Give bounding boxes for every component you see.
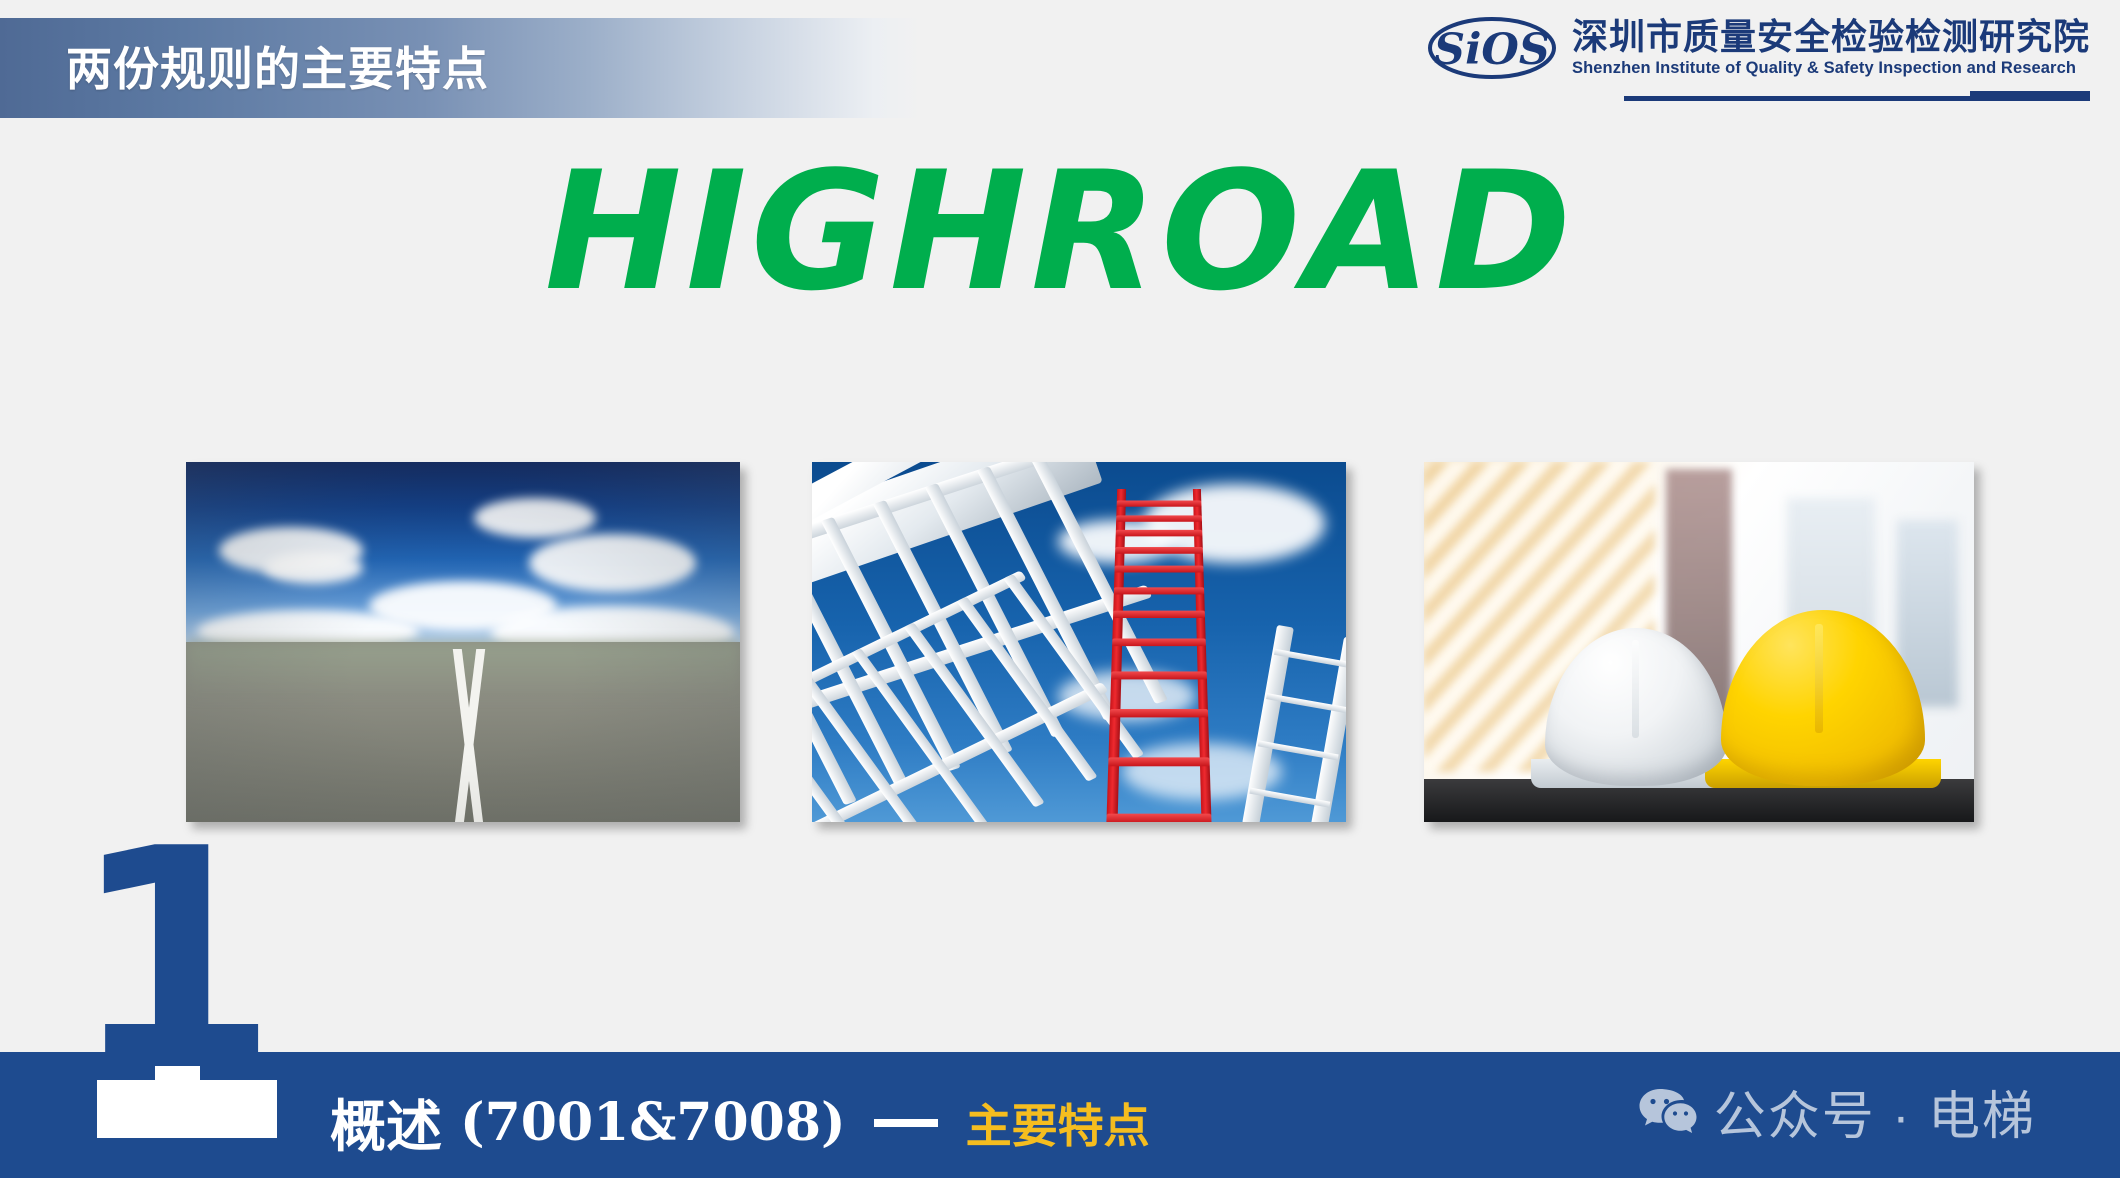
ladders-sky-photo	[812, 462, 1346, 822]
footer-accent-text: 主要特点	[966, 1090, 1150, 1156]
logo-name-cn: 深圳市质量安全检验检测研究院	[1572, 19, 2090, 55]
sios-logo-icon: SiOS	[1426, 14, 1558, 82]
wechat-label: 公众号 · 电梯	[1714, 1074, 2036, 1149]
hard-hats-photo	[1424, 462, 1974, 822]
section-number-base	[97, 1080, 277, 1138]
footer-dash-separator	[874, 1119, 938, 1127]
page-title: 两份规则的主要特点	[66, 33, 489, 99]
logo-name-en: Shenzhen Institute of Quality & Safety I…	[1572, 60, 2090, 77]
organization-logo: SiOS 深圳市质量安全检验检测研究院 Shenzhen Institute o…	[1426, 14, 2090, 82]
highway-road-photo	[186, 462, 740, 822]
slide-canvas: 两份规则的主要特点 SiOS 深圳市质量安全检验检测研究院 Shenzhen I…	[0, 0, 2120, 1178]
footer-title-group: 概述 (7001&7008) 主要特点	[330, 1082, 1150, 1163]
logo-underline-accent	[1970, 91, 2090, 101]
wechat-icon	[1638, 1086, 1698, 1138]
highroad-wordmark: HIGHROAD	[0, 150, 2120, 314]
footer-standard-code: (7001&7008)	[460, 1092, 846, 1153]
wechat-watermark: 公众号 · 电梯	[1638, 1074, 2036, 1149]
svg-text:SiOS: SiOS	[1434, 25, 1550, 75]
footer-title-cn: 概述	[330, 1082, 442, 1163]
